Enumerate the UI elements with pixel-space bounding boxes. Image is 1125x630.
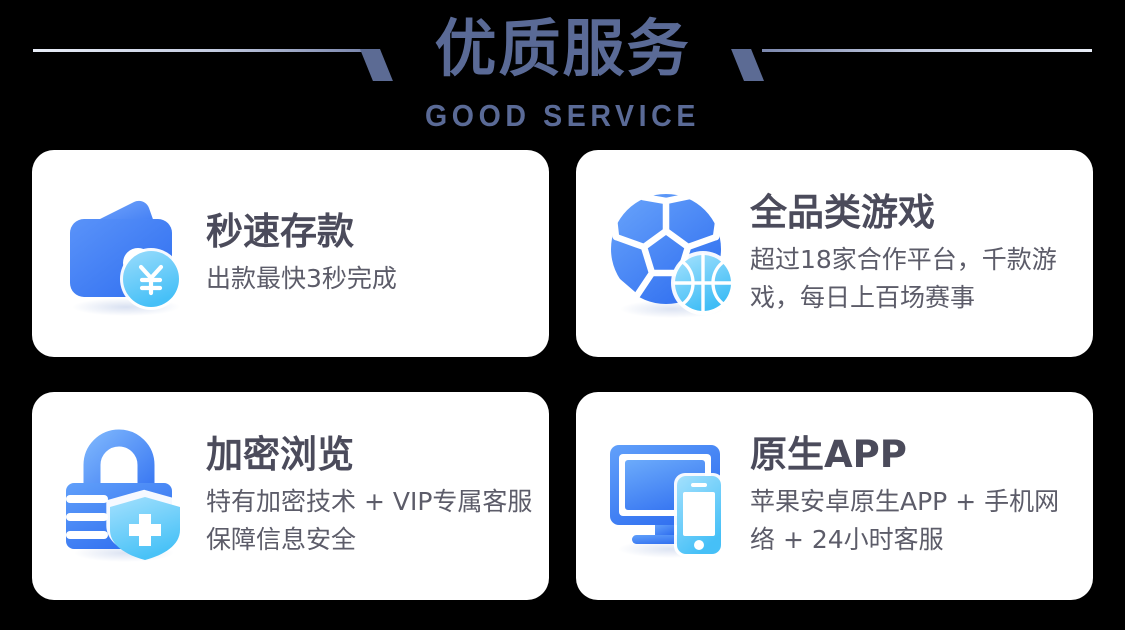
lock-shield-icon xyxy=(54,421,204,571)
card-description: 特有加密技术 + VIP专属客服保障信息安全 xyxy=(206,483,535,559)
card-description: 超过18家合作平台，千款游戏，每日上百场赛事 xyxy=(750,241,1079,317)
card-description: 苹果安卓原生APP + 手机网络 + 24小时客服 xyxy=(750,483,1079,559)
card-title: 秒速存款 xyxy=(206,210,535,254)
wallet-icon xyxy=(54,179,204,329)
service-card-games[interactable]: 全品类游戏 超过18家合作平台，千款游戏，每日上百场赛事 xyxy=(576,150,1093,357)
service-card-encryption[interactable]: 加密浏览 特有加密技术 + VIP专属客服保障信息安全 xyxy=(32,392,549,600)
service-card-games-text: 全品类游戏 超过18家合作平台，千款游戏，每日上百场赛事 xyxy=(748,191,1079,317)
card-title: 全品类游戏 xyxy=(750,191,1079,235)
page-subtitle: GOOD SERVICE xyxy=(45,98,1080,134)
soccer-ball-icon xyxy=(598,179,748,329)
service-card-native-app[interactable]: 原生APP 苹果安卓原生APP + 手机网络 + 24小时客服 xyxy=(576,392,1093,600)
monitor-phone-icon xyxy=(598,421,748,571)
card-title: 加密浏览 xyxy=(206,433,535,477)
service-card-native-app-text: 原生APP 苹果安卓原生APP + 手机网络 + 24小时客服 xyxy=(748,433,1079,559)
page-header: 优质服务 GOOD SERVICE xyxy=(0,0,1125,150)
service-card-encryption-text: 加密浏览 特有加密技术 + VIP专属客服保障信息安全 xyxy=(204,433,535,559)
service-card-deposit-text: 秒速存款 出款最快3秒完成 xyxy=(204,210,535,298)
card-title: 原生APP xyxy=(750,433,1079,477)
page-title: 优质服务 xyxy=(0,12,1125,86)
service-card-grid: 秒速存款 出款最快3秒完成 xyxy=(32,150,1093,600)
card-description: 出款最快3秒完成 xyxy=(206,260,535,298)
service-card-deposit[interactable]: 秒速存款 出款最快3秒完成 xyxy=(32,150,549,357)
